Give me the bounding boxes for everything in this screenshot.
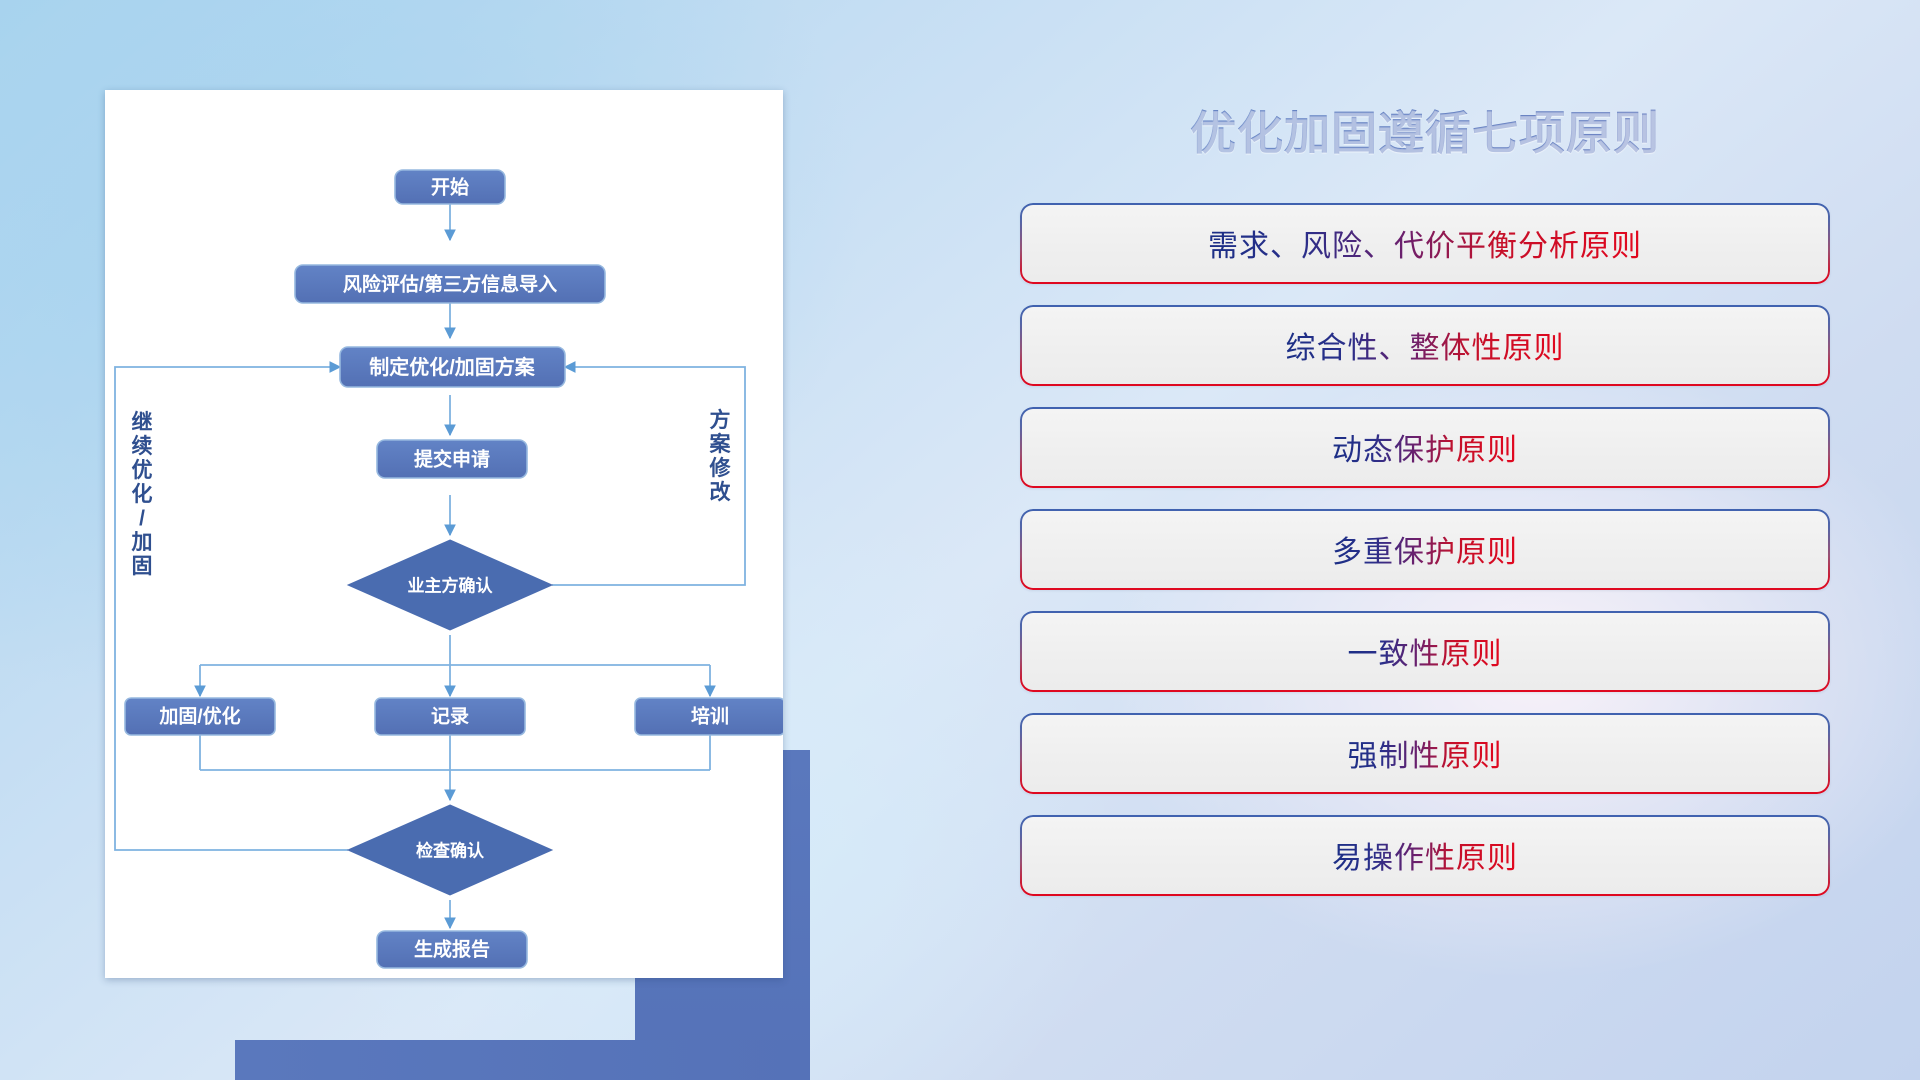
principles-region: 优化加固遵循七项原则 需求、风险、代价平衡分析原则 综合性、整体性原则 动态保护… [1020,108,1830,1018]
principle-card-2-label: 综合性、整体性原则 [1286,323,1565,367]
flow-node-training-label: 培训 [691,705,729,728]
edge-label-revise-plan: 方案修改 [709,408,732,504]
principle-card-1-label: 需求、风险、代价平衡分析原则 [1208,221,1642,265]
flowchart-svg: 开始 风险评估/第三方信息导入 制定优化/加固方案 提交申请 业主方确认 加固/… [105,90,783,978]
flow-node-risk-assessment-label: 风险评估/第三方信息导入 [343,273,557,296]
flow-node-submit-label: 提交申请 [414,448,490,471]
principle-card-5-label: 一致性原则 [1348,629,1503,673]
principle-card-3-label: 动态保护原则 [1332,425,1518,469]
flow-node-report[interactable]: 生成报告 [377,931,527,968]
flow-node-check-confirm-label: 检查确认 [416,841,485,861]
flow-node-plan[interactable]: 制定优化/加固方案 [340,347,565,387]
edge-label-continue-optimize: 继续优化/加固 [131,410,153,578]
principle-card-4[interactable]: 多重保护原则 [1020,509,1830,590]
flow-node-training[interactable]: 培训 [635,698,783,735]
flow-node-owner-confirm[interactable]: 业主方确认 [348,540,552,630]
flow-node-reinforce[interactable]: 加固/优化 [125,698,275,735]
principle-card-5[interactable]: 一致性原则 [1020,611,1830,692]
accent-bar-horizontal [235,1040,810,1080]
principle-card-7-label: 易操作性原则 [1332,833,1518,877]
principle-card-1[interactable]: 需求、风险、代价平衡分析原则 [1020,203,1830,284]
flowchart-region: 开始 风险评估/第三方信息导入 制定优化/加固方案 提交申请 业主方确认 加固/… [105,90,795,990]
principle-card-4-label: 多重保护原则 [1332,527,1518,571]
principle-card-2[interactable]: 综合性、整体性原则 [1020,305,1830,386]
principle-card-3[interactable]: 动态保护原则 [1020,407,1830,488]
flow-node-plan-label: 制定优化/加固方案 [369,355,536,379]
principles-title: 优化加固遵循七项原则 [1020,108,1830,159]
flow-node-reinforce-label: 加固/优化 [158,705,240,728]
flow-node-start[interactable]: 开始 [395,170,505,204]
flow-node-report-label: 生成报告 [414,938,490,961]
flow-node-submit[interactable]: 提交申请 [377,440,527,478]
principle-card-6[interactable]: 强制性原则 [1020,713,1830,794]
flow-node-record-label: 记录 [431,706,469,728]
flow-node-record[interactable]: 记录 [375,698,525,735]
flow-node-check-confirm[interactable]: 检查确认 [348,805,552,895]
flow-node-owner-confirm-label: 业主方确认 [408,576,494,596]
flow-node-start-label: 开始 [431,176,469,199]
principle-card-7[interactable]: 易操作性原则 [1020,815,1830,896]
flow-node-risk-assessment[interactable]: 风险评估/第三方信息导入 [295,265,605,303]
principle-card-6-label: 强制性原则 [1348,731,1503,775]
principles-card-list: 需求、风险、代价平衡分析原则 综合性、整体性原则 动态保护原则 多重保护原则 一… [1020,203,1830,896]
